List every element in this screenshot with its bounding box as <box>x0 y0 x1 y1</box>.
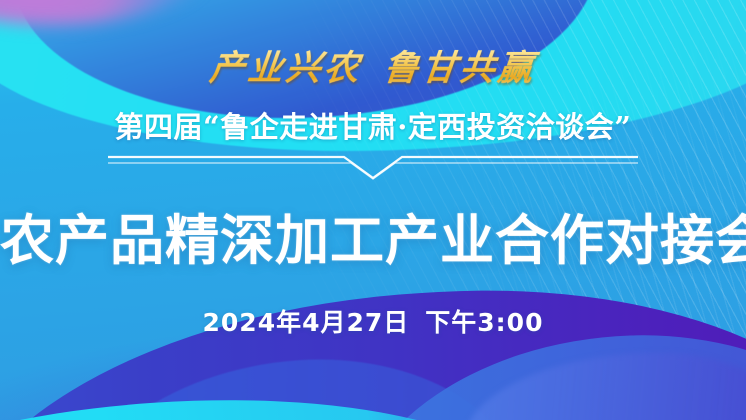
event-date: 2024年4月27日 <box>203 308 410 337</box>
page-title: 农产品精深加工产业合作对接会 <box>0 196 746 275</box>
event-datetime: 2024年4月27日下午3:00 <box>0 303 746 339</box>
chevron-divider <box>108 150 638 186</box>
event-subtitle: 第四届“鲁企走进甘肃·定西投资洽谈会” <box>0 104 746 146</box>
event-poster: 产业兴农鲁甘共赢 第四届“鲁企走进甘肃·定西投资洽谈会” 农产品精深加工产业合作… <box>0 0 746 420</box>
gold-slogan: 产业兴农鲁甘共赢 <box>0 40 746 91</box>
event-time: 下午3:00 <box>425 308 543 337</box>
chevron-divider-icon <box>108 150 638 186</box>
slogan-part-2: 鲁甘共赢 <box>382 48 538 89</box>
poster-content: 产业兴农鲁甘共赢 第四届“鲁企走进甘肃·定西投资洽谈会” 农产品精深加工产业合作… <box>0 0 746 420</box>
slogan-part-1: 产业兴农 <box>208 48 364 89</box>
